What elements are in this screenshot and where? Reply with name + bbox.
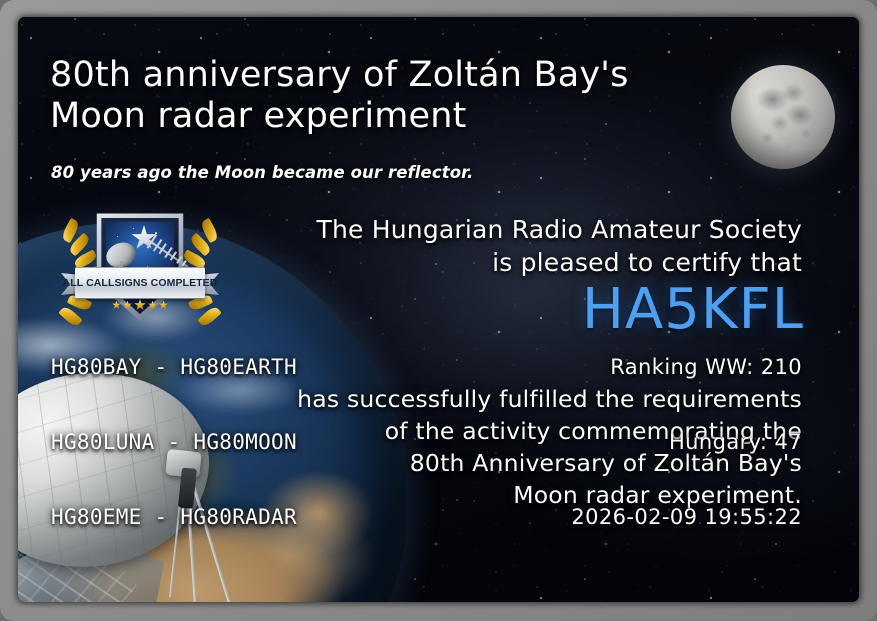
ranking-block: Ranking WW: 210 Hungary: 47 2026-02-09 1… — [571, 305, 802, 580]
certificate-card: ALL CALLSIGNS COMPLETED 80th anniversary… — [0, 0, 877, 621]
callsign-row: HG80BAY - HG80EARTH — [51, 355, 297, 380]
certificate-inner-frame: ALL CALLSIGNS COMPLETED 80th anniversary… — [18, 17, 859, 602]
ranking-worldwide: Ranking WW: 210 — [571, 355, 802, 380]
shield-sparkle — [117, 236, 118, 237]
certify-line-1: The Hungarian Radio Amateur Society — [202, 213, 802, 246]
title-line-1: 80th anniversary of Zoltán Bay's — [50, 55, 710, 96]
callsign-row: HG80EME - HG80RADAR — [51, 505, 297, 530]
callsign-row: HG80LUNA - HG80MOON — [51, 430, 297, 455]
shield-sparkle — [133, 228, 134, 229]
subtitle-tagline: 80 years ago the Moon became our reflect… — [51, 163, 473, 182]
issue-timestamp: 2026-02-09 19:55:22 — [571, 505, 802, 530]
ranking-country: Hungary: 47 — [571, 430, 802, 455]
certify-statement: The Hungarian Radio Amateur Society is p… — [202, 213, 802, 279]
page-title: 80th anniversary of Zoltán Bay's Moon ra… — [50, 55, 710, 137]
certify-line-2: is pleased to certify that — [202, 246, 802, 279]
title-line-2: Moon radar experiment — [50, 96, 710, 137]
moon-terminator — [731, 65, 835, 169]
moon-graphic — [731, 65, 835, 169]
worked-callsign-list: HG80BAY - HG80EARTH HG80LUNA - HG80MOON … — [51, 305, 297, 580]
